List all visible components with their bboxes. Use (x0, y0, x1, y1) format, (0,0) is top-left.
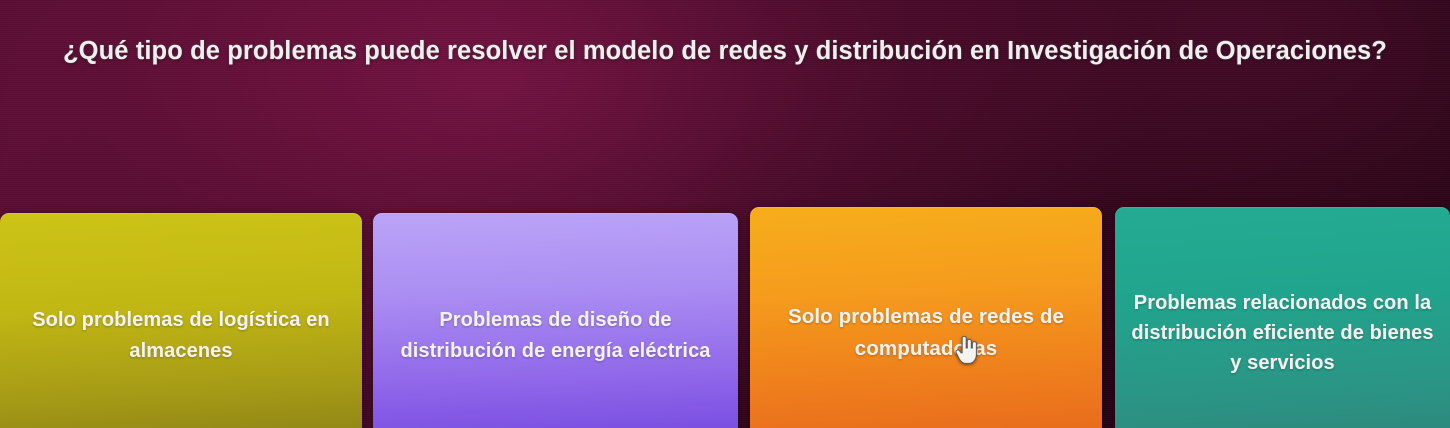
answer-option-b[interactable]: Problemas de diseño de distribución de e… (373, 213, 738, 428)
question-area: ¿Qué tipo de problemas puede resolver el… (0, 34, 1450, 69)
question-text: ¿Qué tipo de problemas puede resolver el… (22, 34, 1428, 69)
answer-options-grid: Solo problemas de logística en almacenes… (0, 206, 1450, 428)
answer-option-c[interactable]: Solo problemas de redes de computadoras (750, 207, 1102, 428)
answer-option-d[interactable]: Problemas relacionados con la distribuci… (1115, 207, 1450, 428)
answer-option-b-label: Problemas de diseño de distribución de e… (387, 305, 724, 366)
quiz-screen: ¿Qué tipo de problemas puede resolver el… (0, 0, 1450, 428)
answer-option-a-label: Solo problemas de logística en almacenes (14, 305, 348, 367)
answer-option-d-label: Problemas relacionados con la distribuci… (1129, 288, 1436, 378)
answer-option-a[interactable]: Solo problemas de logística en almacenes (0, 213, 362, 428)
answer-option-c-label: Solo problemas de redes de computadoras (764, 301, 1088, 363)
